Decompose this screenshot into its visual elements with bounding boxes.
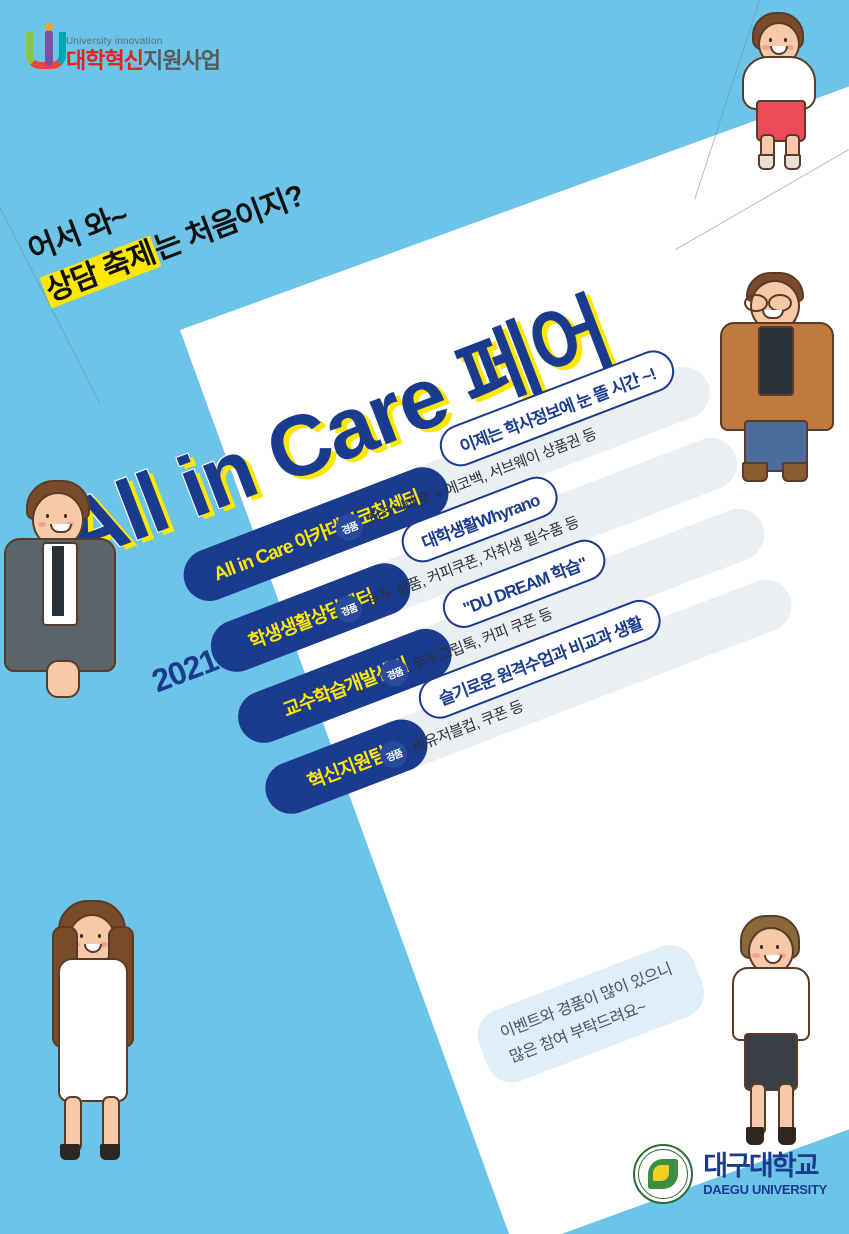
university-name-korean: 대구대학교 [703,1153,827,1180]
program-logo-korean-red: 대학혁신 [66,48,143,73]
program-logo-korean-gray: 지원사업 [143,48,220,73]
program-logo-english: University innovation [66,37,220,47]
university-innovation-logo: University innovation 대학혁신지원사업 [26,24,220,72]
university-name-english: DAEGU UNIVERSITY [703,1183,827,1196]
daegu-university-logo: 대구대학교 DAEGU UNIVERSITY [633,1144,827,1204]
character-illustration-bottom-left [30,900,170,1180]
character-illustration-top-right [716,8,836,168]
character-illustration-left [0,480,150,730]
ui-monogram-icon [26,24,60,72]
character-illustration-bottom-right [710,915,840,1165]
daegu-university-seal-icon [633,1144,693,1204]
character-illustration-right [716,270,846,500]
poster-canvas: University innovation 대학혁신지원사업 어서 와~ 상담 … [0,0,849,1234]
